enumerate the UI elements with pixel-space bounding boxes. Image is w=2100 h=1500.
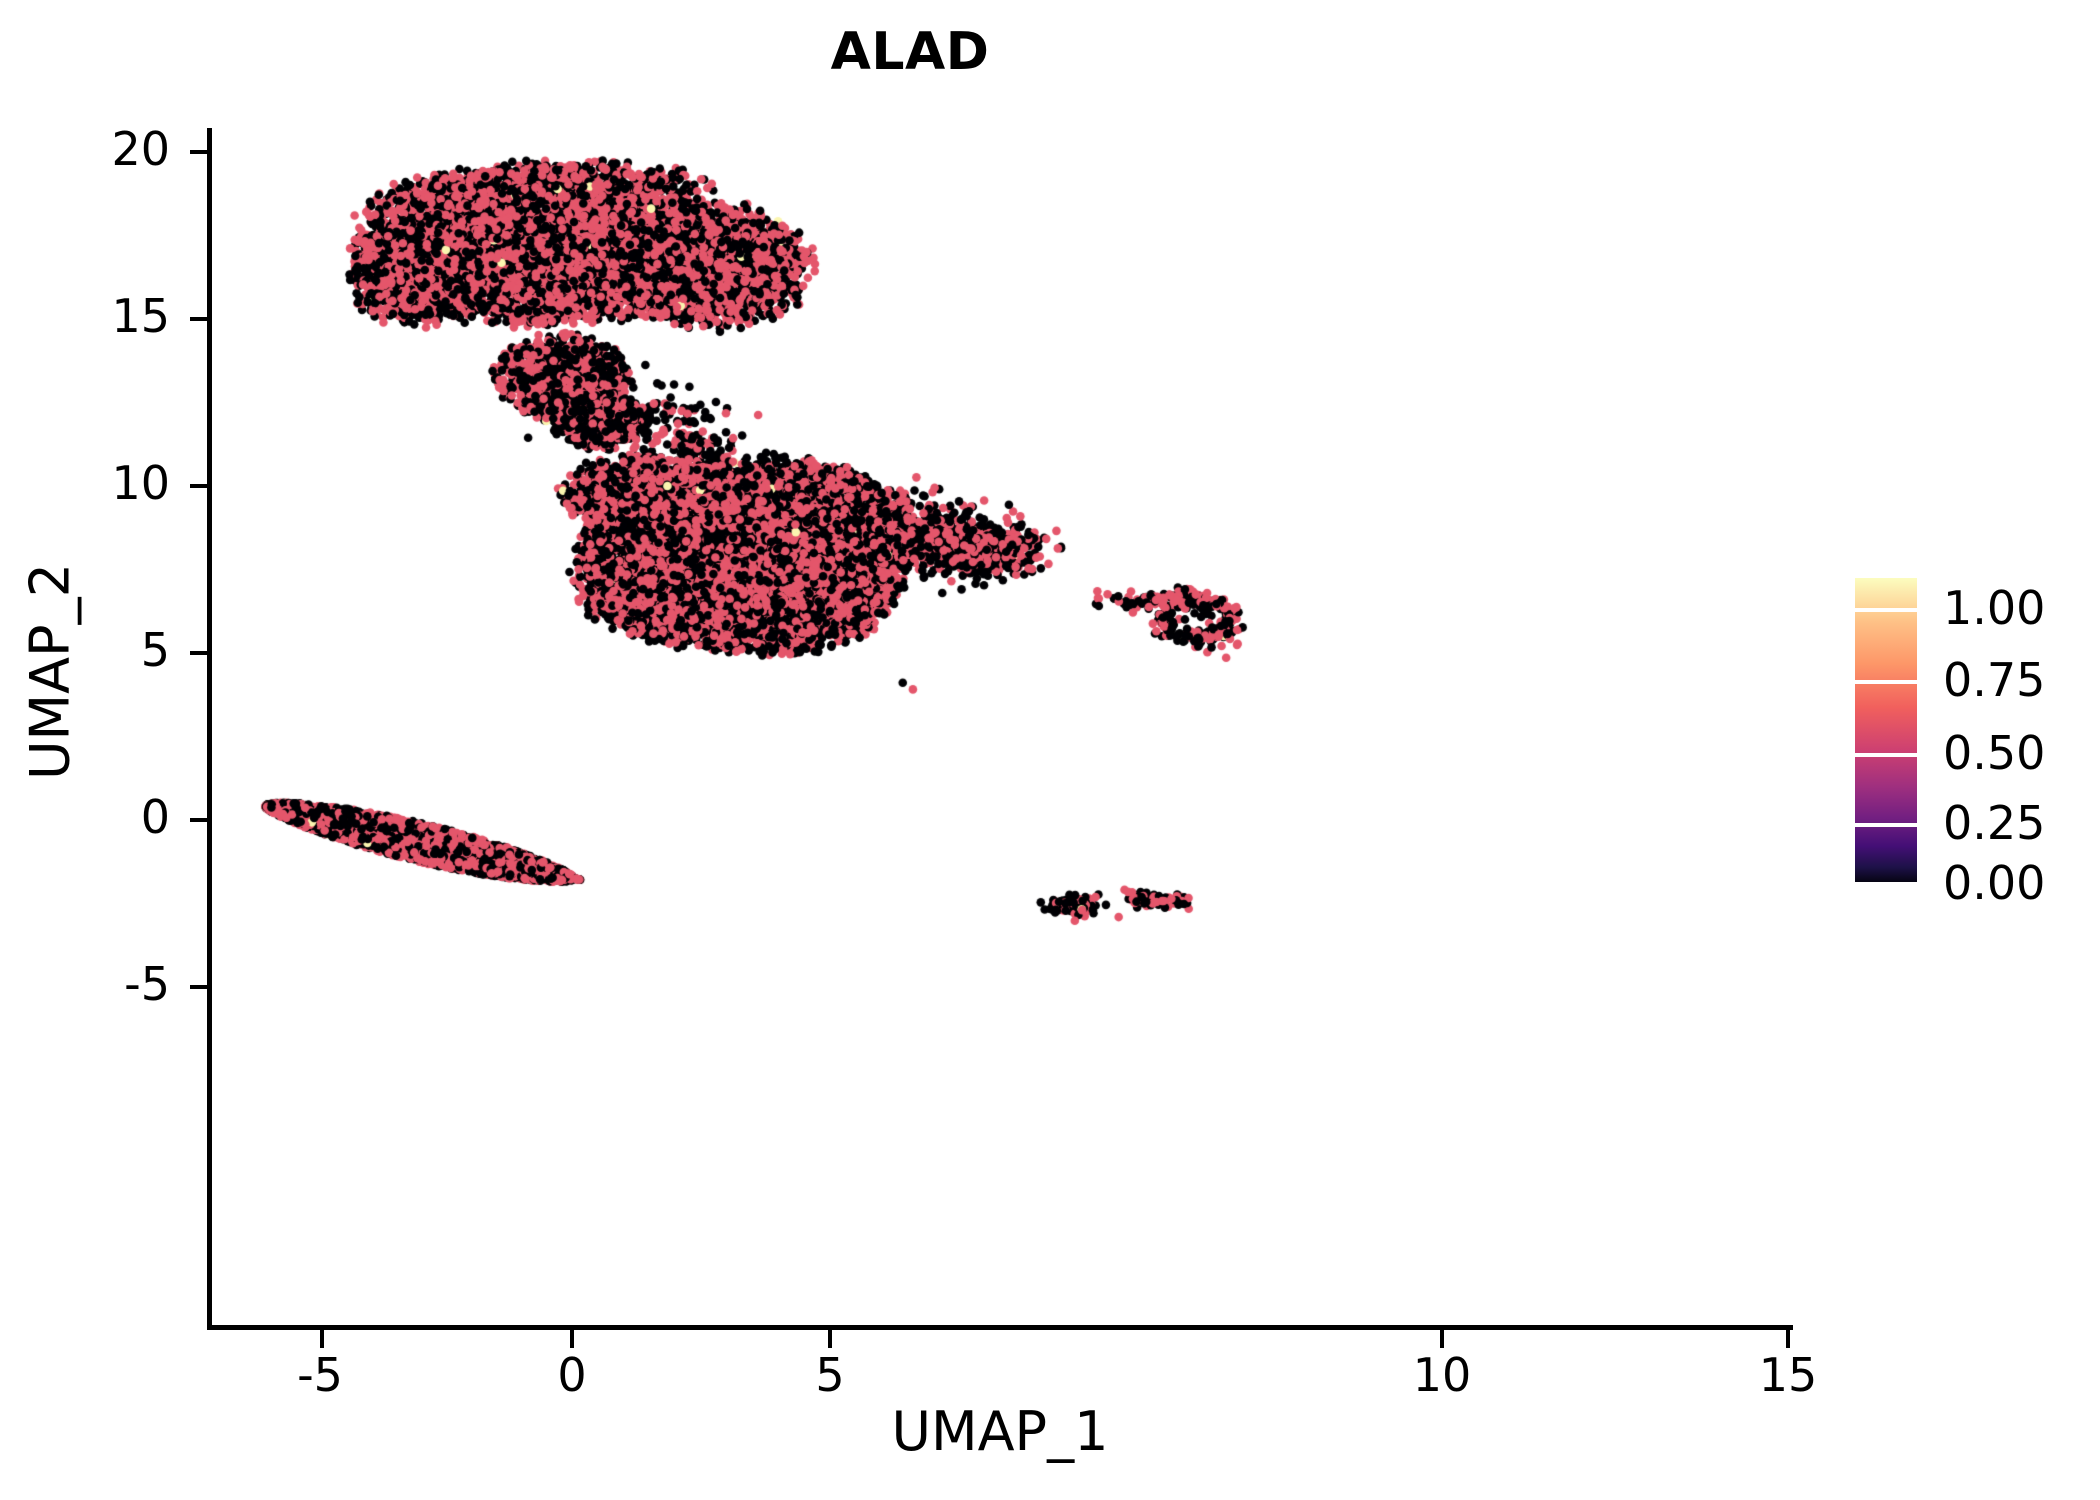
y-tick-20 (190, 150, 208, 154)
colorbar-tick-1.00 (1855, 608, 1917, 612)
x-axis-spine (207, 1325, 1793, 1330)
colorbar-label-1.00: 1.00 (1943, 585, 2045, 631)
y-tick-5 (190, 651, 208, 655)
y-tick-15 (190, 317, 208, 321)
colorbar-gradient (1855, 578, 1917, 886)
colorbar-label-0.75: 0.75 (1943, 657, 2045, 703)
x-tick-10 (1440, 1330, 1444, 1348)
x-tick-15 (1786, 1330, 1790, 1348)
x-tick--5 (320, 1330, 324, 1348)
y-tick-label-20: 20 (20, 126, 170, 172)
y-axis-title: UMAP_2 (19, 322, 82, 1022)
x-tick-label-0: 0 (492, 1352, 652, 1398)
x-axis-title: UMAP_1 (210, 1400, 1790, 1463)
scatter-points-canvas (210, 128, 1790, 1328)
y-tick--5 (190, 985, 208, 989)
y-tick-0 (190, 818, 208, 822)
x-tick-label-10: 10 (1362, 1352, 1522, 1398)
plot-area (210, 128, 1790, 1328)
colorbar-label-0.50: 0.50 (1943, 730, 2045, 776)
x-tick-label-15: 15 (1708, 1352, 1868, 1398)
x-tick-label-5: 5 (750, 1352, 910, 1398)
x-tick-5 (828, 1330, 832, 1348)
page-title: ALAD (0, 22, 1820, 82)
colorbar-label-0.25: 0.25 (1943, 800, 2045, 846)
colorbar-tick-0.25 (1855, 823, 1917, 827)
x-tick-label--5: -5 (240, 1352, 400, 1398)
colorbar-label-0.00: 0.00 (1943, 860, 2045, 906)
colorbar-tick-0.75 (1855, 680, 1917, 684)
y-tick-10 (190, 484, 208, 488)
x-tick-0 (570, 1330, 574, 1348)
colorbar-tick-0.50 (1855, 753, 1917, 757)
y-axis-spine (207, 128, 212, 1330)
figure-root: ALAD 20 15 10 5 0 -5 -5 0 5 10 15 UMAP_2… (0, 0, 2100, 1500)
colorbar-tick-0.00 (1855, 882, 1917, 886)
